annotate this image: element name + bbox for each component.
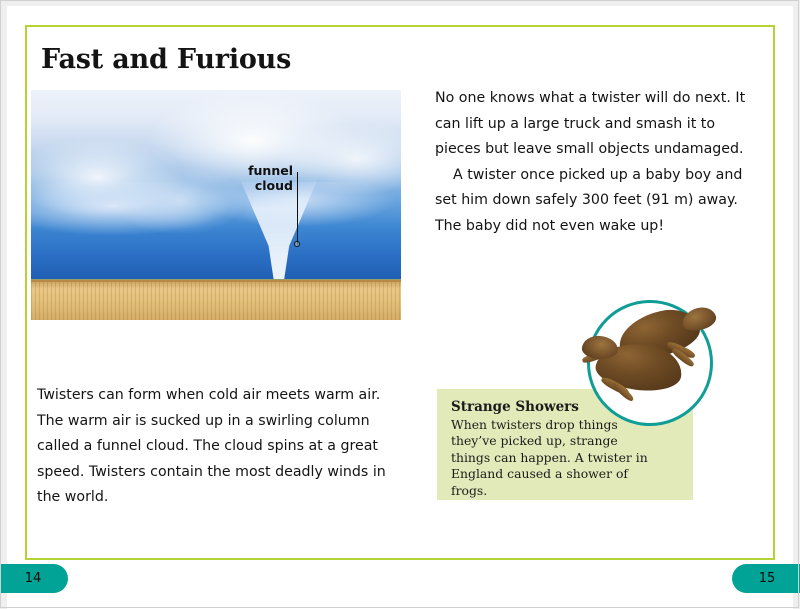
cloud-base — [31, 182, 401, 242]
page-gutter-right — [793, 0, 800, 609]
page-number-left: 14 — [0, 564, 68, 593]
funnel-cloud-label-line2: cloud — [233, 178, 293, 193]
left-paragraph-1: Twisters can form when cold air meets wa… — [37, 383, 387, 511]
page-gutter-top — [0, 0, 800, 6]
intro-paragraph-2: A twister once picked up a baby boy and … — [435, 163, 765, 240]
intro-paragraph-1: No one knows what a twister will do next… — [435, 86, 765, 163]
page-number-right: 15 — [732, 564, 800, 593]
funnel-leader-line — [297, 172, 298, 245]
page-number-left-label: 14 — [25, 571, 42, 586]
page-gutter-left — [0, 0, 7, 609]
intro-text-block: No one knows what a twister will do next… — [435, 86, 765, 239]
funnel-leader-dot-icon — [294, 241, 300, 247]
tornado-photo — [31, 90, 401, 320]
book-spread: Fast and Furious funnel cloud No one kno… — [0, 0, 800, 609]
left-text-block: Twisters can form when cold air meets wa… — [37, 383, 387, 511]
wheat-field — [31, 280, 401, 320]
funnel-cloud-label-line1: funnel — [233, 163, 293, 178]
funnel-cloud-label: funnel cloud — [233, 163, 293, 193]
page-title: Fast and Furious — [41, 44, 291, 75]
frog-photo — [570, 296, 722, 448]
page-number-right-label: 15 — [759, 571, 776, 586]
